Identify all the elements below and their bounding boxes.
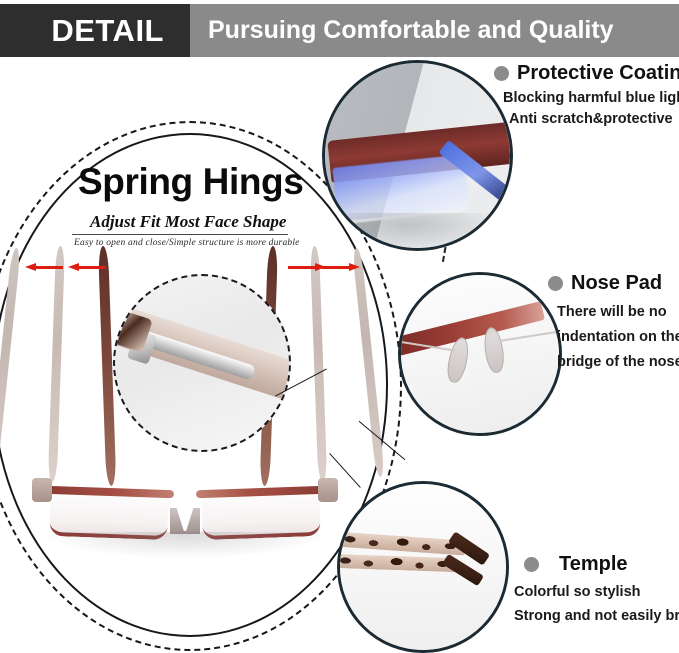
- callout-nose-pad: Nose Pad There will be no indentation on…: [548, 272, 679, 370]
- header-bar: DETAIL Pursuing Comfortable and Quality: [0, 4, 679, 57]
- main-nose-bridge: [170, 508, 200, 534]
- callout-temple-head: Temple: [524, 553, 679, 576]
- bullet-icon: [524, 557, 539, 572]
- header-tagline: Pursuing Comfortable and Quality: [208, 16, 614, 45]
- callout-nose-pad-line-2: indentation on the: [557, 329, 679, 345]
- bullet-icon: [494, 66, 509, 81]
- callout-protective-coating-head: Protective Coating: [494, 62, 679, 85]
- nose-pad-photo: [398, 272, 562, 436]
- flex-arrow-right-1: [288, 263, 326, 271]
- flex-arrow-left-1: [25, 263, 63, 271]
- callout-nose-pad-head: Nose Pad: [548, 272, 679, 295]
- header-tagline-bar: Pursuing Comfortable and Quality: [190, 4, 679, 57]
- spring-hinge-subtitle: Adjust Fit Most Face Shape: [90, 212, 286, 232]
- callout-protective-coating: Protective Coating Blocking harmful blue…: [494, 62, 679, 127]
- callout-protective-coating-line-1: Blocking harmful blue light: [503, 90, 679, 106]
- callout-protective-coating-title: Protective Coating: [517, 62, 679, 85]
- callout-temple: Temple Colorful so stylish Strong and no…: [524, 553, 679, 624]
- protective-coating-photo: [322, 60, 513, 251]
- main-frame-shadow: [46, 532, 324, 558]
- callout-temple-title: Temple: [559, 553, 628, 576]
- main-endpiece-left: [32, 478, 52, 502]
- flex-arrow-left-2: [68, 263, 106, 271]
- spring-hinge-fine-print: Easy to open and close/Simple structure …: [74, 238, 300, 248]
- callout-nose-pad-line-3: bridge of the nose: [557, 354, 679, 370]
- temple-photo: [337, 481, 509, 653]
- main-endpiece-right: [318, 478, 338, 502]
- coating-photo-shadow: [325, 213, 510, 251]
- main-glasses-photo: [20, 470, 350, 570]
- callout-nose-pad-title: Nose Pad: [571, 272, 662, 295]
- detail-badge: DETAIL: [0, 4, 190, 57]
- callout-protective-coating-line-2: Anti scratch&protective: [509, 111, 679, 127]
- bullet-icon: [548, 276, 563, 291]
- flex-arrow-right-2: [322, 263, 360, 271]
- callout-temple-line-2: Strong and not easily broken: [514, 608, 679, 624]
- spring-hinge-title: Spring Hings: [78, 161, 303, 203]
- detail-badge-label: DETAIL: [51, 13, 164, 49]
- product-detail-infographic: DETAIL Pursuing Comfortable and Quality …: [0, 0, 679, 653]
- callout-nose-pad-line-1: There will be no: [557, 304, 679, 320]
- nose-photo-background: [401, 275, 559, 433]
- spring-hinge-closeup-photo: [113, 274, 291, 452]
- callout-temple-line-1: Colorful so stylish: [514, 584, 679, 600]
- spring-hinge-divider: [72, 234, 288, 235]
